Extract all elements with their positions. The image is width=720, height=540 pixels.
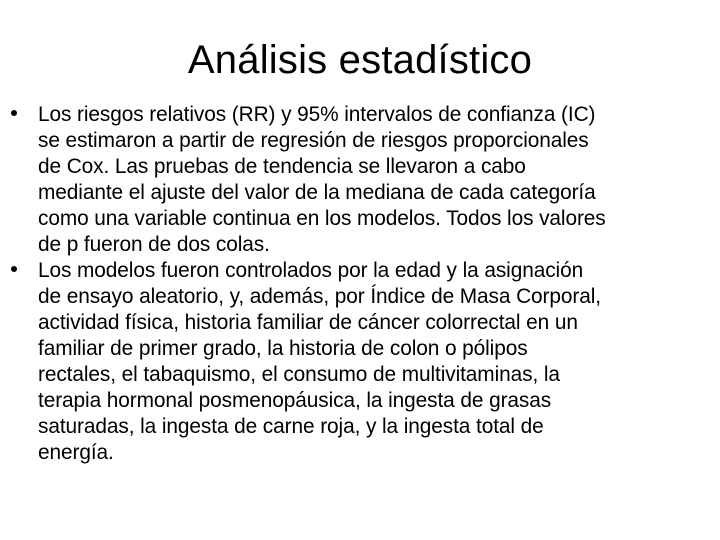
bullet-list-item: Los modelos fueron controlados por la ed… bbox=[6, 257, 712, 465]
slide-body: Los riesgos relativos (RR) y 95% interva… bbox=[6, 101, 712, 465]
presentation-slide: Análisis estadístico Los riesgos relativ… bbox=[0, 0, 720, 540]
bullet-dot-icon bbox=[11, 266, 17, 272]
bullet-dot-icon bbox=[11, 110, 17, 116]
bullet-item-text: Los modelos fueron controlados por la ed… bbox=[38, 257, 692, 465]
bullet-list-item: Los riesgos relativos (RR) y 95% interva… bbox=[6, 101, 712, 257]
bullet-item-text: Los riesgos relativos (RR) y 95% interva… bbox=[38, 101, 692, 257]
slide-title: Análisis estadístico bbox=[0, 36, 720, 84]
